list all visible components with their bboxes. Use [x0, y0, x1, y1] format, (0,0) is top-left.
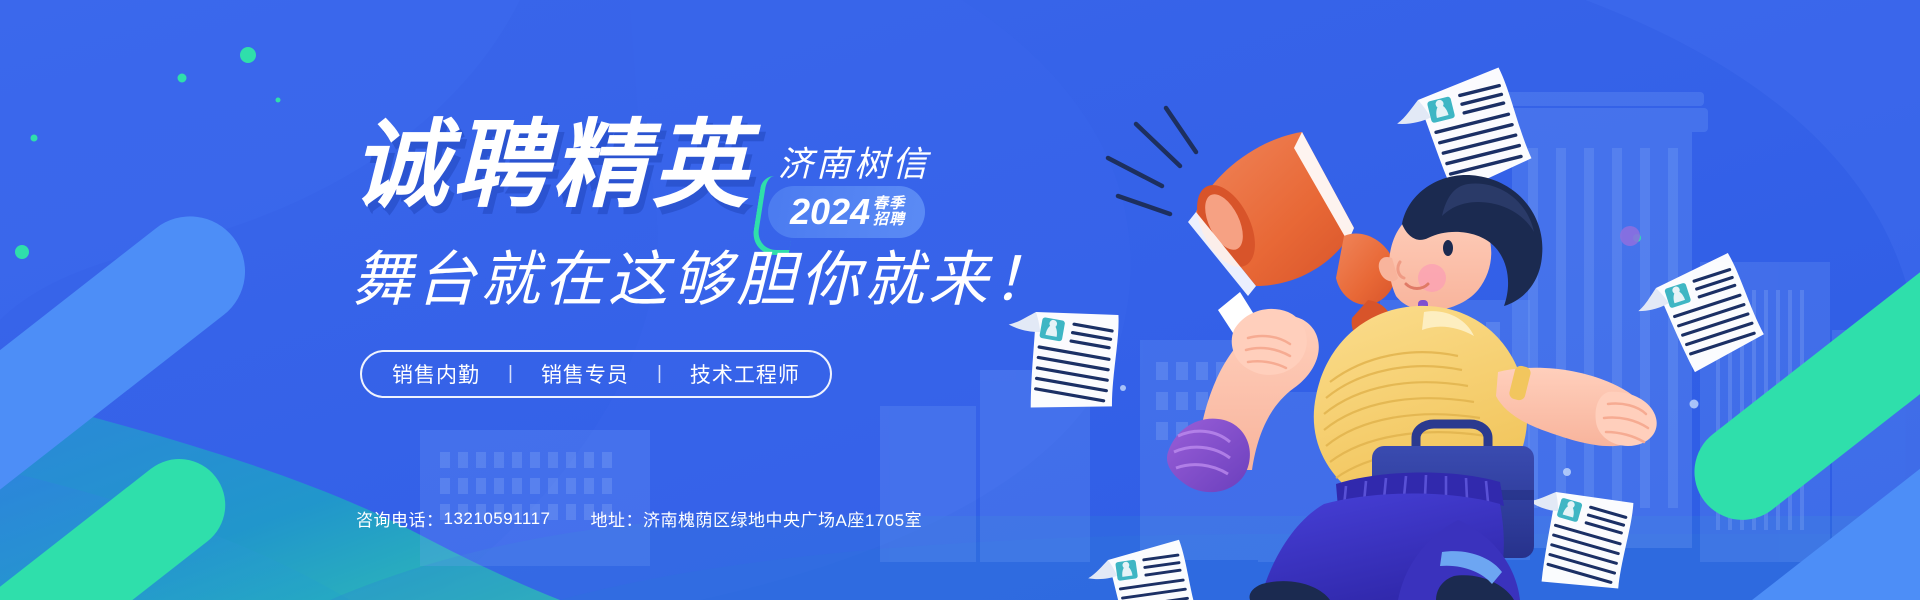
- job-tag-technical-engineer[interactable]: 技术工程师: [690, 359, 800, 389]
- company-name: 济南树信: [778, 136, 930, 187]
- year-label: 2024: [790, 194, 870, 230]
- season-line-1: 春季: [873, 196, 905, 212]
- season-line-2: 招聘: [873, 212, 905, 228]
- job-tags-pill: 销售内勤 | 销售专员 | 技术工程师: [360, 350, 832, 398]
- character-left-arm: [1167, 309, 1319, 492]
- speed-lines: [1108, 108, 1196, 214]
- phone-value[interactable]: 13210591117: [444, 509, 551, 529]
- job-tag-sales-assistant[interactable]: 销售内勤: [392, 359, 480, 389]
- address-value: 济南槐荫区绿地中央广场A座1705室: [643, 506, 922, 531]
- page-subtitle: 舞台就在这够胆你就来！: [352, 250, 1056, 310]
- character-head: [1379, 175, 1543, 312]
- tag-separator: |: [508, 363, 513, 385]
- page-title: 诚聘精英: [352, 118, 752, 214]
- address-label: 地址：: [590, 506, 643, 531]
- recruitment-banner: 诚聘精英 济南树信 2024 春季 招聘 舞台就在这够胆你就来！ 销售内勤 | …: [0, 0, 1920, 600]
- character-legs: [1250, 472, 1521, 600]
- contact-info: 咨询电话： 13210591117 地址： 济南槐荫区绿地中央广场A座1705室: [356, 506, 922, 531]
- job-tag-sales-specialist[interactable]: 销售专员: [541, 359, 629, 389]
- tag-separator: |: [657, 363, 662, 385]
- phone-label: 咨询电话：: [356, 506, 444, 531]
- year-badge: 2024 春季 招聘: [768, 186, 925, 238]
- season-label: 春季 招聘: [873, 196, 905, 228]
